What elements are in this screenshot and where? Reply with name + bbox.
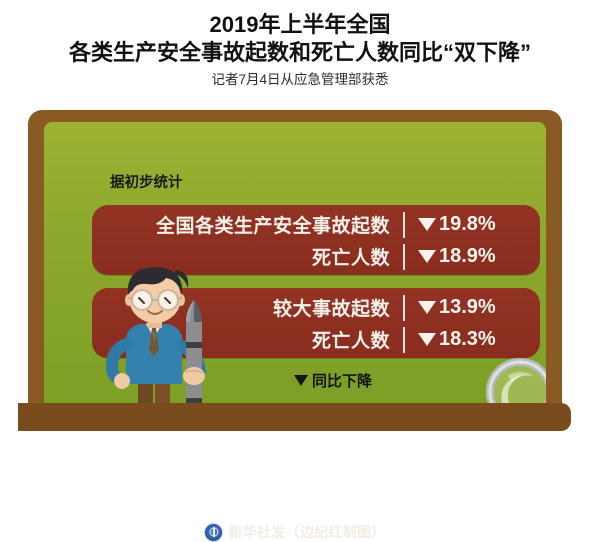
stats-row-label: 死亡人数 <box>312 326 390 353</box>
stats-row-value: 18.3% <box>418 328 526 351</box>
board-surface: 据初步统计 2019年上半年 全国各类生产安全事故起数 19.8% 死亡人数 <box>44 122 546 405</box>
row-divider <box>403 327 405 353</box>
stats-row-label: 死亡人数 <box>312 243 390 270</box>
stats-row: 死亡人数 18.9% <box>312 240 526 273</box>
triangle-down-icon <box>418 333 436 346</box>
legend-label: 同比下降 <box>312 370 372 391</box>
row-divider <box>403 295 405 321</box>
stats-row-label: 全国各类生产安全事故起数 <box>156 211 390 238</box>
triangle-down-icon <box>294 375 308 386</box>
man-with-glasses-holding-pen-illustration <box>106 264 224 405</box>
board-frame: 据初步统计 2019年上半年 全国各类生产安全事故起数 19.8% 死亡人数 <box>28 110 562 407</box>
stats-row-percent: 18.3% <box>439 328 496 351</box>
stats-row-percent: 19.8% <box>439 213 496 236</box>
stats-row-percent: 13.9% <box>439 296 496 319</box>
magnifying-glass-icon <box>482 354 546 405</box>
row-divider <box>403 212 405 238</box>
credit-line: 新华社发（边纪红制图） <box>28 522 562 542</box>
note-line-1: 据初步统计 <box>110 173 200 194</box>
stats-row-value: 19.8% <box>418 213 526 236</box>
row-divider <box>403 244 405 270</box>
stats-row-value: 18.9% <box>418 245 526 268</box>
stats-row: 死亡人数 18.3% <box>312 323 526 356</box>
triangle-down-icon <box>418 250 436 263</box>
credit-text: 新华社发（边纪红制图） <box>228 522 385 542</box>
subtitle: 记者7月4日从应急管理部获悉 <box>0 67 600 90</box>
board-bottom-ledge <box>18 403 571 431</box>
triangle-down-icon <box>418 218 436 231</box>
legend-year-on-year-decline: 同比下降 <box>294 370 372 391</box>
title-line-1: 2019年上半年全国 <box>0 0 600 38</box>
stats-row: 较大事故起数 13.9% <box>273 291 526 324</box>
stats-row-label: 较大事故起数 <box>273 294 390 321</box>
stats-row: 全国各类生产安全事故起数 19.8% <box>156 208 526 241</box>
page-title: 2019年上半年全国 各类生产安全事故起数和死亡人数同比“双下降” 记者7月4日… <box>0 0 600 90</box>
title-line-2: 各类生产安全事故起数和死亡人数同比“双下降” <box>0 38 600 67</box>
infographic-board: 据初步统计 2019年上半年 全国各类生产安全事故起数 19.8% 死亡人数 <box>28 110 562 443</box>
stats-row-percent: 18.9% <box>439 245 496 268</box>
xinhua-logo-icon <box>204 523 223 542</box>
triangle-down-icon <box>418 301 436 314</box>
stats-row-value: 13.9% <box>418 296 526 319</box>
